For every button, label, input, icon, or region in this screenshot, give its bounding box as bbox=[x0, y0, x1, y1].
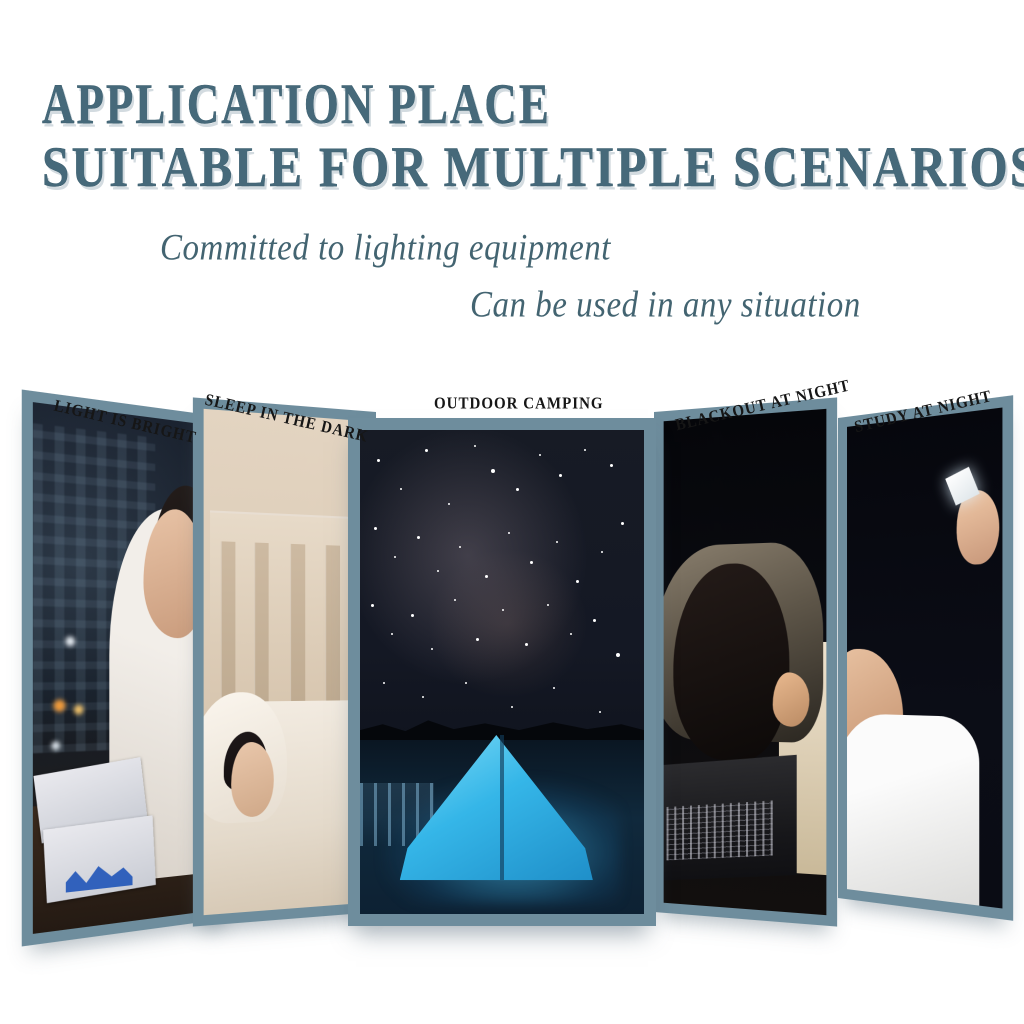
application-place-infographic: APPLICATION PLACE SUITABLE FOR MULTIPLE … bbox=[0, 0, 1024, 1024]
scenario-panel-study-at-night bbox=[838, 395, 1013, 921]
page-title-line-1: APPLICATION PLACE bbox=[42, 76, 1021, 134]
scenario-panel-group bbox=[0, 370, 1024, 970]
page-subtitle: Committed to lighting equipment Can be u… bbox=[0, 228, 1024, 322]
scenario-photo-outdoor-camping bbox=[360, 430, 644, 914]
scenario-panel-outdoor-camping bbox=[348, 418, 656, 926]
scenario-photo-study-at-night bbox=[847, 408, 1002, 909]
scenario-photo-blackout-at-night bbox=[664, 409, 827, 915]
scenario-panel-blackout-at-night bbox=[654, 397, 837, 926]
page-title-line-2: SUITABLE FOR MULTIPLE SCENARIOS bbox=[42, 139, 1024, 197]
panel-caption-outdoor-camping: OUTDOOR CAMPING bbox=[434, 395, 604, 414]
scenario-photo-sleep-in-the-dark bbox=[204, 409, 367, 915]
page-title: APPLICATION PLACE SUITABLE FOR MULTIPLE … bbox=[42, 76, 1002, 184]
page-subtitle-line-1: Committed to lighting equipment bbox=[160, 228, 1024, 269]
page-subtitle-line-2: Can be used in any situation bbox=[470, 285, 1024, 326]
